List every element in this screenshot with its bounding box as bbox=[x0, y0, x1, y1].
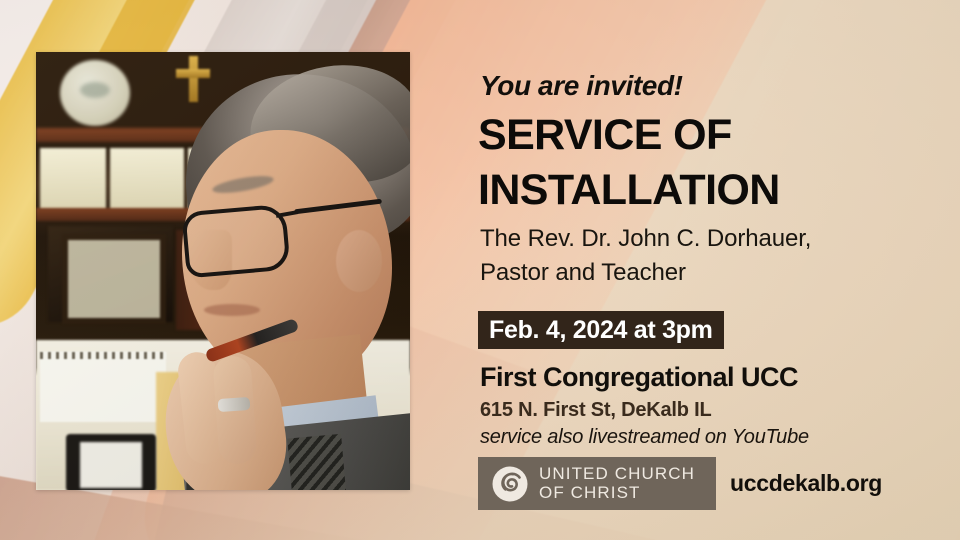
venue-address: 615 N. First St, DeKalb IL bbox=[480, 399, 712, 422]
honoree-subtitle: The Rev. Dr. John C. Dorhauer, Pastor an… bbox=[480, 222, 920, 289]
ucc-wordmark-line-2: OF CHRIST bbox=[539, 484, 695, 502]
ucc-wordmark-line-1: UNITED CHURCH bbox=[539, 465, 695, 483]
event-poster: You are invited! SERVICE OF INSTALLATION… bbox=[0, 0, 960, 540]
date-time-banner: Feb. 4, 2024 at 3pm bbox=[478, 311, 724, 349]
poster-text-column: You are invited! SERVICE OF INSTALLATION… bbox=[478, 0, 948, 540]
headline-line-1: SERVICE OF bbox=[478, 111, 732, 159]
photo-sheen-overlay bbox=[36, 52, 410, 490]
ucc-logo-wordmark: UNITED CHURCH OF CHRIST bbox=[539, 465, 695, 501]
honoree-role: Pastor and Teacher bbox=[480, 256, 920, 290]
page-title: SERVICE OF INSTALLATION bbox=[478, 108, 948, 218]
portrait-photo-scene bbox=[36, 52, 410, 490]
website-url: uccdekalb.org bbox=[730, 470, 882, 497]
portrait-photo bbox=[36, 52, 410, 490]
headline-line-2: INSTALLATION bbox=[478, 163, 948, 218]
ucc-logo-lockup: UNITED CHURCH OF CHRIST bbox=[478, 457, 716, 510]
livestream-note: service also livestreamed on YouTube bbox=[480, 426, 809, 449]
ucc-comma-logo-icon bbox=[490, 464, 530, 504]
honoree-name: The Rev. Dr. John C. Dorhauer, bbox=[480, 222, 920, 256]
invitation-kicker: You are invited! bbox=[480, 70, 683, 102]
church-name: First Congregational UCC bbox=[480, 362, 798, 393]
